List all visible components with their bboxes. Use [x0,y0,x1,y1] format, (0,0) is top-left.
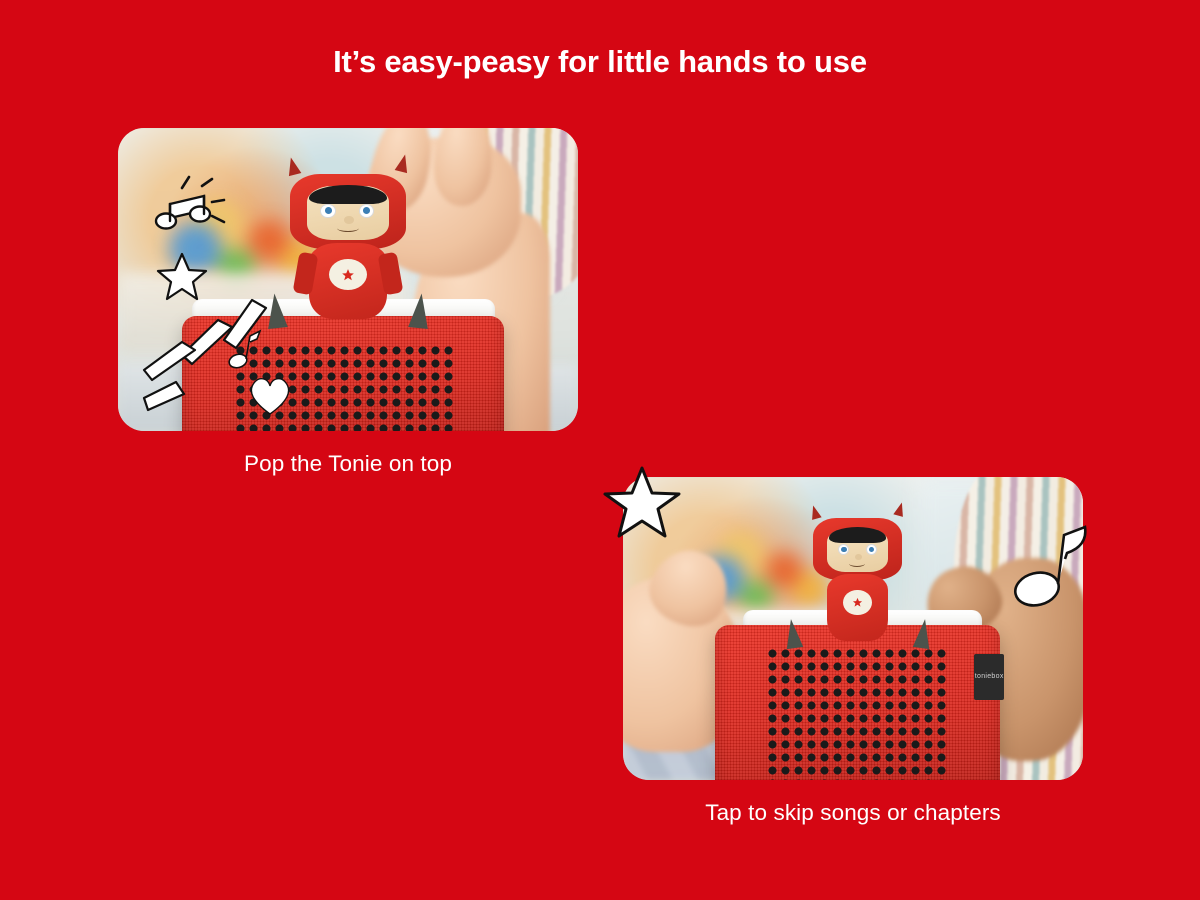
caption-pop-the-tonie-on-top: Pop the Tonie on top [118,451,578,477]
feature-cell-tap-to-skip: toniebox [623,477,1200,826]
toniebox-speaker-grille [766,647,949,780]
tonie-fin-left [782,618,803,649]
tonie-eye-right [866,544,877,555]
page-title: It’s easy-peasy for little hands to use [0,44,1200,80]
doodle-star [154,250,210,302]
tonie-ear-right [894,501,907,517]
tonie-fin-right [912,618,933,649]
tonie-nose [344,216,354,224]
tonie-mouth [849,560,864,566]
tonie-star-badge [843,590,871,615]
tonie-figure[interactable] [807,513,908,640]
star-icon [852,597,863,608]
feature-grid: Pop the Tonie on top [0,128,1200,900]
photo-panel-tap-to-skip[interactable]: toniebox [623,477,1083,780]
toniebox-brand-label: toniebox [974,654,1004,700]
toniebox[interactable]: toniebox [715,625,1000,780]
caption-tap-to-skip: Tap to skip songs or chapters [623,800,1083,826]
doodle-star [601,464,683,544]
tonie-eye-right [359,204,374,218]
tonie-ear-right [395,153,412,173]
doodle-music-note [1013,529,1091,619]
tonie-fin-right [408,293,431,330]
tonie-hair [309,185,386,204]
photo-scene: toniebox [623,477,1083,780]
doodle-heart [246,373,294,417]
tonie-eye-left [320,204,335,218]
doodle-small-note [226,328,268,372]
doodle-music-note [148,176,228,252]
tonie-hair [829,527,886,542]
feature-cell-pop-the-tonie-on-top: Pop the Tonie on top [118,128,1200,477]
photo-panel-pop-the-tonie-on-top[interactable] [118,128,578,431]
tonie-figure[interactable] [279,164,417,322]
star-icon [341,268,355,282]
